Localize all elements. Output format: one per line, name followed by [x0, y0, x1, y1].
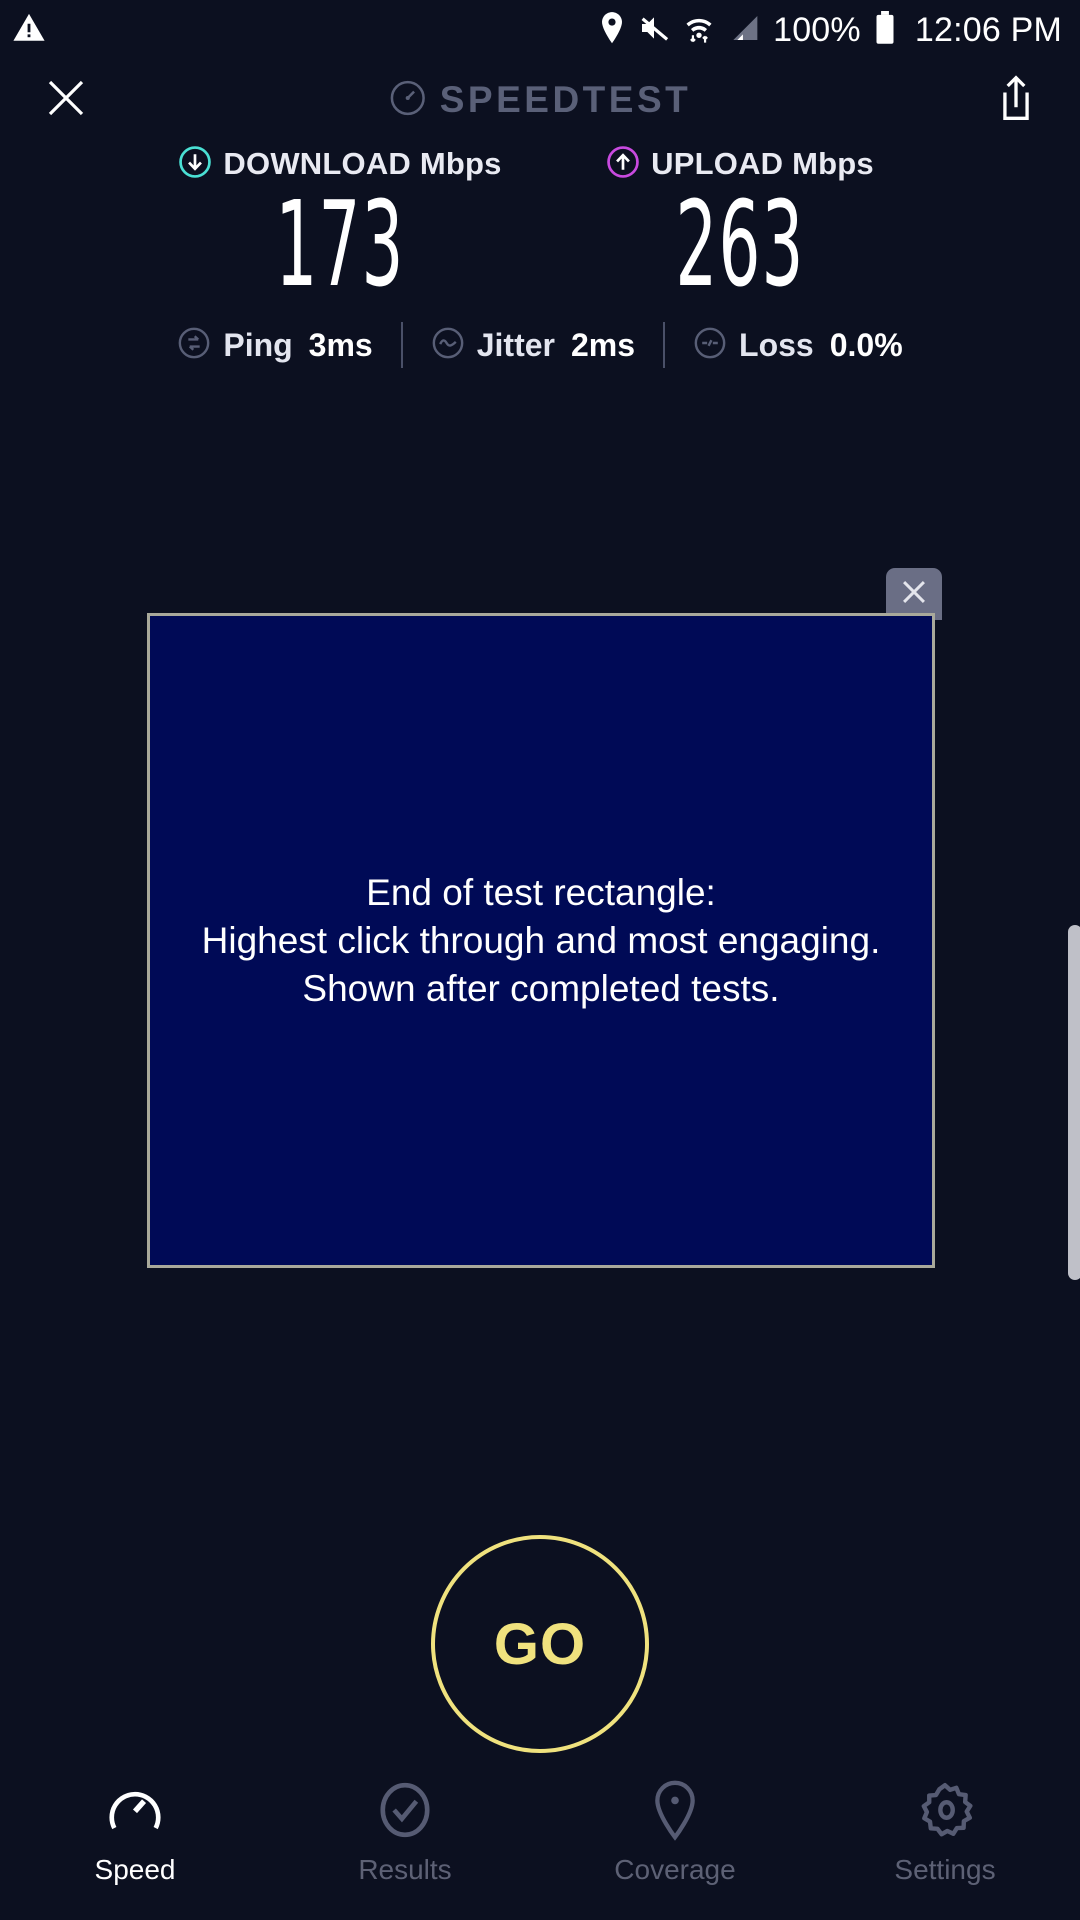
loss-stat: Loss 0.0% [665, 326, 931, 365]
ad-text: End of test rectangle: Highest click thr… [150, 869, 932, 1013]
jitter-icon [431, 326, 465, 365]
bottom-navigation: Speed Results Coverage Settings [0, 1760, 1080, 1920]
location-pin-icon [599, 11, 625, 50]
speedometer-icon [104, 1776, 166, 1844]
battery-full-icon [874, 11, 896, 50]
share-icon[interactable] [994, 74, 1038, 127]
download-arrow-icon [178, 145, 212, 184]
upload-arrow-icon [606, 145, 640, 184]
advertisement-banner[interactable]: End of test rectangle: Highest click thr… [147, 613, 935, 1268]
speed-metrics-row: DOWNLOAD Mbps 173 UPLOAD Mbps 263 [0, 140, 1080, 300]
go-button-label: GO [494, 1611, 586, 1678]
gear-icon [914, 1776, 976, 1844]
nav-item-speed[interactable]: Speed [0, 1760, 270, 1920]
nav-item-results[interactable]: Results [270, 1760, 540, 1920]
brand-title: SPEEDTEST [440, 79, 692, 121]
brand: SPEEDTEST [389, 79, 692, 122]
jitter-value: 2ms [571, 327, 635, 364]
page-scrollbar[interactable] [1068, 925, 1080, 1280]
go-button[interactable]: GO [431, 1535, 649, 1753]
nav-label-coverage: Coverage [614, 1854, 735, 1886]
jitter-stat: Jitter 2ms [403, 326, 663, 365]
ping-value: 3ms [309, 327, 373, 364]
close-icon[interactable] [42, 74, 90, 127]
upload-value: 263 [635, 188, 846, 300]
ping-label: Ping [223, 327, 292, 364]
map-pin-icon [644, 1776, 706, 1844]
jitter-label: Jitter [477, 327, 555, 364]
nav-item-settings[interactable]: Settings [810, 1760, 1080, 1920]
connection-stats-row: Ping 3ms Jitter 2ms Loss 0.0% [0, 322, 1080, 368]
loss-icon [693, 326, 727, 365]
warning-triangle-icon [12, 11, 46, 50]
wifi-icon [683, 11, 715, 50]
ad-close-icon [897, 575, 931, 614]
download-metric: DOWNLOAD Mbps 173 [170, 144, 510, 300]
results-panel: DOWNLOAD Mbps 173 UPLOAD Mbps 263 [0, 140, 1080, 368]
volume-muted-icon [638, 12, 670, 49]
download-value: 173 [235, 188, 446, 300]
loss-value: 0.0% [830, 327, 903, 364]
app-header: SPEEDTEST [0, 60, 1080, 140]
status-bar-right: 100% 12:06 PM [599, 11, 1062, 50]
nav-label-settings: Settings [894, 1854, 995, 1886]
speedtest-app-screen: 100% 12:06 PM SPEEDTEST [0, 0, 1080, 1920]
ping-stat: Ping 3ms [149, 326, 400, 365]
ping-icon [177, 326, 211, 365]
battery-percent-label: 100% [773, 11, 861, 50]
nav-label-speed: Speed [95, 1854, 176, 1886]
status-bar: 100% 12:06 PM [0, 0, 1080, 60]
cellular-signal-icon [728, 12, 760, 49]
check-circle-icon [374, 1776, 436, 1844]
ad-line-1: End of test rectangle: [156, 869, 926, 917]
ad-line-2: Highest click through and most engaging. [156, 917, 926, 965]
speedometer-logo-icon [389, 79, 427, 122]
nav-label-results: Results [358, 1854, 451, 1886]
ad-line-3: Shown after completed tests. [156, 965, 926, 1013]
nav-item-coverage[interactable]: Coverage [540, 1760, 810, 1920]
clock-label: 12:06 PM [915, 11, 1062, 50]
loss-label: Loss [739, 327, 814, 364]
status-bar-left [12, 11, 46, 50]
upload-metric: UPLOAD Mbps 263 [570, 144, 910, 300]
